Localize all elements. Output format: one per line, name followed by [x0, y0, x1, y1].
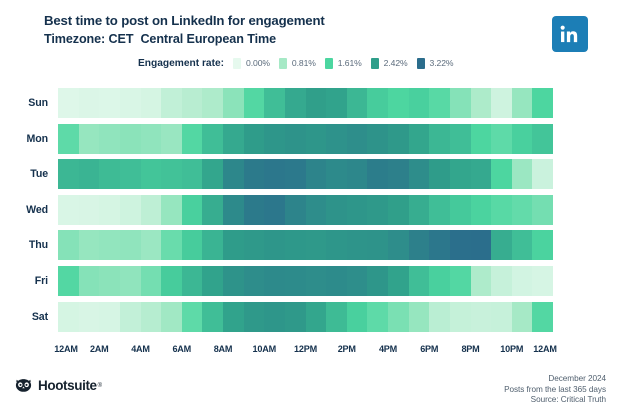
- heatmap-cell[interactable]: [491, 302, 512, 332]
- heatmap-cell[interactable]: [285, 88, 306, 118]
- row-label-tue: Tue: [0, 159, 48, 189]
- heatmap-cell[interactable]: [99, 195, 120, 225]
- heatmap-row-sun: Sun: [0, 88, 620, 118]
- heatmap-cell[interactable]: [79, 159, 100, 189]
- meta-window: Posts from the last 365 days: [504, 385, 606, 396]
- heatmap-cell[interactable]: [367, 124, 388, 154]
- heatmap-cell[interactable]: [532, 124, 553, 154]
- legend-value-0: 0.00%: [246, 58, 270, 68]
- heatmap-cell[interactable]: [182, 302, 203, 332]
- legend-item-4: 3.22%: [417, 58, 454, 69]
- legend-swatch-0: [233, 58, 241, 69]
- heatmap-cell[interactable]: [161, 124, 182, 154]
- heatmap-cell[interactable]: [450, 266, 471, 296]
- row-cells: [58, 266, 553, 296]
- heatmap-cell[interactable]: [429, 230, 450, 260]
- heatmap-row-sat: Sat: [0, 302, 620, 332]
- heatmap-cell[interactable]: [120, 195, 141, 225]
- heatmap-cell[interactable]: [326, 88, 347, 118]
- heatmap-cell[interactable]: [264, 230, 285, 260]
- heatmap-cell[interactable]: [306, 124, 327, 154]
- heatmap-cell[interactable]: [367, 266, 388, 296]
- heatmap-cell[interactable]: [306, 195, 327, 225]
- heatmap-cell[interactable]: [223, 230, 244, 260]
- heatmap-cell[interactable]: [306, 230, 327, 260]
- heatmap-cell[interactable]: [141, 195, 162, 225]
- heatmap-cell[interactable]: [326, 266, 347, 296]
- heatmap-cell[interactable]: [79, 266, 100, 296]
- heatmap-cell[interactable]: [491, 124, 512, 154]
- heatmap-cell[interactable]: [491, 195, 512, 225]
- heatmap-cell[interactable]: [223, 159, 244, 189]
- heatmap-cell[interactable]: [367, 88, 388, 118]
- row-cells: [58, 159, 553, 189]
- heatmap-cell[interactable]: [244, 230, 265, 260]
- heatmap-row-thu: Thu: [0, 230, 620, 260]
- x-tick-label: 10AM: [253, 344, 276, 354]
- heatmap-cell[interactable]: [429, 88, 450, 118]
- heatmap-cell[interactable]: [491, 88, 512, 118]
- heatmap-cell[interactable]: [120, 88, 141, 118]
- x-tick-label: 10PM: [500, 344, 523, 354]
- heatmap-cell[interactable]: [512, 88, 533, 118]
- x-tick-label: 2AM: [90, 344, 109, 354]
- legend-item-3: 2.42%: [371, 58, 408, 69]
- heatmap-cell[interactable]: [409, 159, 430, 189]
- heatmap-cell[interactable]: [244, 159, 265, 189]
- legend-swatch-1: [279, 58, 287, 69]
- heatmap-cell[interactable]: [79, 124, 100, 154]
- heatmap-cell[interactable]: [182, 266, 203, 296]
- x-tick-label: 12PM: [294, 344, 317, 354]
- heatmap-cell[interactable]: [223, 88, 244, 118]
- heatmap-cell[interactable]: [264, 195, 285, 225]
- heatmap-cell[interactable]: [450, 159, 471, 189]
- heatmap-cell[interactable]: [532, 159, 553, 189]
- heatmap-cell[interactable]: [202, 88, 223, 118]
- heatmap-cell[interactable]: [99, 124, 120, 154]
- heatmap-cell[interactable]: [532, 266, 553, 296]
- row-cells: [58, 230, 553, 260]
- legend-item-0: 0.00%: [233, 58, 270, 69]
- row-label-fri: Fri: [0, 266, 48, 296]
- heatmap-cell[interactable]: [99, 266, 120, 296]
- heatmap-cell[interactable]: [99, 230, 120, 260]
- heatmap-cell[interactable]: [367, 195, 388, 225]
- heatmap-cell[interactable]: [450, 302, 471, 332]
- heatmap-cell[interactable]: [58, 159, 79, 189]
- heatmap-cell[interactable]: [141, 266, 162, 296]
- meta-source: Source: Critical Truth: [504, 395, 606, 406]
- row-cells: [58, 88, 553, 118]
- heatmap-cell[interactable]: [202, 266, 223, 296]
- heatmap-row-wed: Wed: [0, 195, 620, 225]
- heatmap-cell[interactable]: [202, 124, 223, 154]
- heatmap-cell[interactable]: [532, 88, 553, 118]
- heatmap-cell[interactable]: [367, 159, 388, 189]
- hootsuite-logo: Hootsuite®: [14, 378, 102, 393]
- heatmap-cell[interactable]: [347, 230, 368, 260]
- heatmap-cell[interactable]: [450, 88, 471, 118]
- legend-swatch-2: [325, 58, 333, 69]
- heatmap-cell[interactable]: [79, 88, 100, 118]
- heatmap-cell[interactable]: [58, 88, 79, 118]
- heatmap-cell[interactable]: [161, 230, 182, 260]
- heatmap-cell[interactable]: [244, 302, 265, 332]
- heatmap-cell[interactable]: [202, 230, 223, 260]
- row-label-sat: Sat: [0, 302, 48, 332]
- legend-title: Engagement rate:: [138, 58, 224, 69]
- x-tick-label: 12AM: [533, 344, 556, 354]
- heatmap-cell[interactable]: [326, 124, 347, 154]
- heatmap-cell[interactable]: [512, 195, 533, 225]
- heatmap-cell[interactable]: [223, 302, 244, 332]
- heatmap-cell[interactable]: [429, 266, 450, 296]
- heatmap-cell[interactable]: [326, 195, 347, 225]
- heatmap-cell[interactable]: [264, 302, 285, 332]
- linkedin-icon: [552, 16, 588, 52]
- heatmap-cell[interactable]: [141, 230, 162, 260]
- heatmap-cell[interactable]: [471, 266, 492, 296]
- heatmap-cell[interactable]: [532, 195, 553, 225]
- legend-value-2: 1.61%: [338, 58, 362, 68]
- heatmap-cell[interactable]: [450, 230, 471, 260]
- x-tick-label: 12AM: [54, 344, 77, 354]
- heatmap-cell[interactable]: [161, 302, 182, 332]
- heatmap-cell[interactable]: [409, 88, 430, 118]
- row-cells: [58, 195, 553, 225]
- heatmap-cell[interactable]: [141, 88, 162, 118]
- heatmap-cell[interactable]: [471, 159, 492, 189]
- heatmap-cell[interactable]: [532, 302, 553, 332]
- heatmap-cell[interactable]: [347, 195, 368, 225]
- heatmap-row-tue: Tue: [0, 159, 620, 189]
- meta-date: December 2024: [504, 374, 606, 385]
- heatmap-cell[interactable]: [388, 302, 409, 332]
- legend-swatch-3: [371, 58, 379, 69]
- heatmap-cell[interactable]: [99, 88, 120, 118]
- heatmap-cell[interactable]: [429, 124, 450, 154]
- heatmap-cell[interactable]: [120, 302, 141, 332]
- heatmap-cell[interactable]: [202, 195, 223, 225]
- heatmap-cell[interactable]: [409, 302, 430, 332]
- heatmap-cell[interactable]: [141, 159, 162, 189]
- heatmap-cell[interactable]: [347, 159, 368, 189]
- legend-value-3: 2.42%: [384, 58, 408, 68]
- heatmap-cell[interactable]: [326, 159, 347, 189]
- heatmap-cell[interactable]: [388, 266, 409, 296]
- heatmap-cell[interactable]: [512, 230, 533, 260]
- heatmap-cell[interactable]: [223, 266, 244, 296]
- heatmap-cell[interactable]: [388, 88, 409, 118]
- heatmap-cell[interactable]: [388, 195, 409, 225]
- heatmap-cell[interactable]: [120, 230, 141, 260]
- row-label-sun: Sun: [0, 88, 48, 118]
- heatmap-cell[interactable]: [264, 88, 285, 118]
- legend-swatch-4: [417, 58, 425, 69]
- heatmap-cell[interactable]: [471, 230, 492, 260]
- row-label-wed: Wed: [0, 195, 48, 225]
- heatmap-cell[interactable]: [182, 124, 203, 154]
- heatmap-cell[interactable]: [347, 266, 368, 296]
- heatmap-cell[interactable]: [388, 230, 409, 260]
- heatmap-cell[interactable]: [161, 159, 182, 189]
- heatmap-cell[interactable]: [285, 302, 306, 332]
- page-title: Best time to post on LinkedIn for engage…: [44, 12, 514, 29]
- hootsuite-wordmark: Hootsuite: [38, 378, 97, 393]
- heatmap-cell[interactable]: [306, 266, 327, 296]
- heatmap-cell[interactable]: [491, 159, 512, 189]
- heatmap-cell[interactable]: [471, 195, 492, 225]
- heatmap-cell[interactable]: [58, 266, 79, 296]
- heatmap-cell[interactable]: [450, 124, 471, 154]
- heatmap-cell[interactable]: [512, 266, 533, 296]
- heatmap-cell[interactable]: [347, 88, 368, 118]
- row-cells: [58, 124, 553, 154]
- heatmap-cell[interactable]: [244, 266, 265, 296]
- heatmap-cell[interactable]: [58, 124, 79, 154]
- x-tick-label: 2PM: [338, 344, 356, 354]
- heatmap-cell[interactable]: [409, 230, 430, 260]
- x-tick-label: 8PM: [461, 344, 479, 354]
- heatmap-cell[interactable]: [306, 88, 327, 118]
- heatmap-cell[interactable]: [202, 302, 223, 332]
- legend: Engagement rate: 0.00% 0.81% 1.61% 2.42%…: [138, 56, 462, 70]
- heatmap-cell[interactable]: [223, 124, 244, 154]
- heatmap-cell[interactable]: [326, 302, 347, 332]
- heatmap: SunMonTueWedThuFriSat: [0, 88, 620, 340]
- heatmap-cell[interactable]: [285, 195, 306, 225]
- x-tick-label: 6AM: [172, 344, 191, 354]
- heatmap-cell[interactable]: [182, 159, 203, 189]
- heatmap-cell[interactable]: [244, 88, 265, 118]
- heatmap-cell[interactable]: [58, 195, 79, 225]
- heatmap-cell[interactable]: [367, 302, 388, 332]
- heatmap-cell[interactable]: [161, 266, 182, 296]
- heatmap-cell[interactable]: [326, 230, 347, 260]
- heatmap-cell[interactable]: [306, 159, 327, 189]
- legend-value-1: 0.81%: [292, 58, 316, 68]
- heatmap-cell[interactable]: [471, 88, 492, 118]
- heatmap-cell[interactable]: [141, 124, 162, 154]
- heatmap-cell[interactable]: [491, 266, 512, 296]
- heatmap-cell[interactable]: [120, 266, 141, 296]
- heatmap-cell[interactable]: [367, 230, 388, 260]
- heatmap-cell[interactable]: [285, 124, 306, 154]
- heatmap-row-mon: Mon: [0, 124, 620, 154]
- row-cells: [58, 302, 553, 332]
- heatmap-cell[interactable]: [264, 159, 285, 189]
- heatmap-cell[interactable]: [244, 195, 265, 225]
- heatmap-cell[interactable]: [120, 124, 141, 154]
- heatmap-cell[interactable]: [491, 230, 512, 260]
- heatmap-cell[interactable]: [471, 302, 492, 332]
- heatmap-cell[interactable]: [388, 159, 409, 189]
- x-tick-label: 8AM: [214, 344, 233, 354]
- x-tick-label: 4PM: [379, 344, 397, 354]
- heatmap-cell[interactable]: [79, 195, 100, 225]
- footer-meta: December 2024 Posts from the last 365 da…: [504, 374, 606, 406]
- heatmap-cell[interactable]: [450, 195, 471, 225]
- title-block: Best time to post on LinkedIn for engage…: [44, 12, 514, 48]
- heatmap-cell[interactable]: [182, 88, 203, 118]
- heatmap-cell[interactable]: [182, 195, 203, 225]
- owl-icon: [14, 378, 33, 393]
- heatmap-cell[interactable]: [79, 230, 100, 260]
- heatmap-cell[interactable]: [99, 159, 120, 189]
- heatmap-cell[interactable]: [161, 195, 182, 225]
- heatmap-cell[interactable]: [141, 302, 162, 332]
- heatmap-cell[interactable]: [58, 230, 79, 260]
- heatmap-cell[interactable]: [182, 230, 203, 260]
- x-axis: 12AM2AM4AM6AM8AM10AM12PM2PM4PM6PM8PM10PM…: [58, 344, 553, 360]
- timezone-name: Central European Time: [140, 32, 276, 46]
- heatmap-cell[interactable]: [347, 302, 368, 332]
- heatmap-cell[interactable]: [409, 124, 430, 154]
- heatmap-cell[interactable]: [512, 124, 533, 154]
- heatmap-cell[interactable]: [79, 302, 100, 332]
- heatmap-cell[interactable]: [264, 124, 285, 154]
- legend-item-2: 1.61%: [325, 58, 362, 69]
- heatmap-row-fri: Fri: [0, 266, 620, 296]
- heatmap-cell[interactable]: [161, 88, 182, 118]
- heatmap-cell[interactable]: [409, 266, 430, 296]
- heatmap-cell[interactable]: [429, 195, 450, 225]
- heatmap-cell[interactable]: [471, 124, 492, 154]
- heatmap-cell[interactable]: [285, 266, 306, 296]
- heatmap-cell[interactable]: [409, 195, 430, 225]
- heatmap-cell[interactable]: [58, 302, 79, 332]
- heatmap-cell[interactable]: [99, 302, 120, 332]
- heatmap-cell[interactable]: [120, 159, 141, 189]
- row-label-thu: Thu: [0, 230, 48, 260]
- timezone-label: Timezone: CET: [44, 32, 133, 46]
- footer: Hootsuite® December 2024 Posts from the …: [0, 370, 620, 413]
- x-tick-label: 6PM: [420, 344, 438, 354]
- heatmap-cell[interactable]: [429, 302, 450, 332]
- heatmap-cell[interactable]: [223, 195, 244, 225]
- heatmap-cell[interactable]: [512, 302, 533, 332]
- registered-mark: ®: [98, 383, 102, 389]
- infographic-root: Best time to post on LinkedIn for engage…: [0, 0, 620, 413]
- heatmap-cell[interactable]: [306, 302, 327, 332]
- legend-item-1: 0.81%: [279, 58, 316, 69]
- heatmap-cell[interactable]: [347, 124, 368, 154]
- heatmap-cell[interactable]: [285, 159, 306, 189]
- row-label-mon: Mon: [0, 124, 48, 154]
- heatmap-cell[interactable]: [264, 266, 285, 296]
- timezone-line: Timezone: CETCentral European Time: [44, 31, 514, 48]
- heatmap-cell[interactable]: [532, 230, 553, 260]
- heatmap-cell[interactable]: [202, 159, 223, 189]
- heatmap-cell[interactable]: [429, 159, 450, 189]
- heatmap-cell[interactable]: [388, 124, 409, 154]
- x-tick-label: 4AM: [131, 344, 150, 354]
- legend-value-4: 3.22%: [430, 58, 454, 68]
- heatmap-cell[interactable]: [285, 230, 306, 260]
- heatmap-cell[interactable]: [244, 124, 265, 154]
- heatmap-cell[interactable]: [512, 159, 533, 189]
